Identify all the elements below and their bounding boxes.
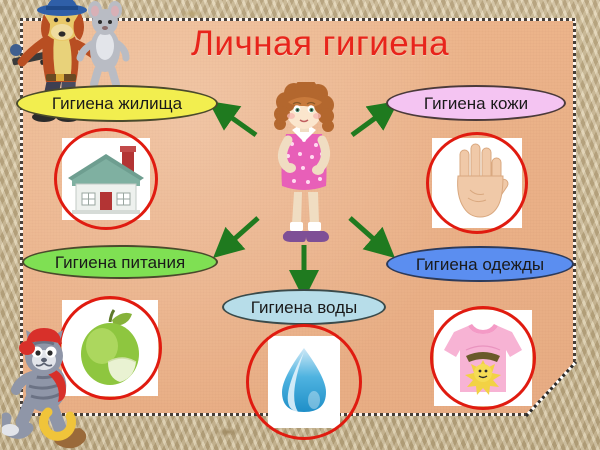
picture-water-drop	[268, 336, 340, 428]
open-hand-icon	[432, 138, 522, 228]
node-food[interactable]: Гигиена питания	[22, 245, 218, 279]
slide-canvas: Личная гигиена	[0, 0, 600, 450]
page-title: Личная гигиена	[150, 22, 490, 66]
picture-tshirt	[434, 310, 532, 406]
node-skin[interactable]: Гигиена кожи	[386, 85, 566, 121]
cartoon-cat-icon	[2, 326, 108, 450]
node-water[interactable]: Гигиена воды	[222, 289, 386, 325]
node-skin-label: Гигиена кожи	[424, 95, 528, 112]
picture-house	[62, 138, 150, 220]
node-clothes-label: Гигиена одежды	[416, 256, 544, 273]
tshirt-icon	[434, 310, 532, 406]
girl-figure	[256, 82, 352, 254]
node-water-label: Гигиена воды	[251, 299, 358, 316]
node-housing[interactable]: Гигиена жилища	[16, 85, 218, 122]
house-icon	[62, 138, 150, 220]
water-drop-icon	[268, 336, 340, 428]
node-clothes[interactable]: Гигиена одежды	[386, 246, 574, 282]
picture-hand	[432, 138, 522, 228]
node-housing-label: Гигиена жилища	[52, 95, 182, 112]
node-food-label: Гигиена питания	[55, 254, 185, 271]
